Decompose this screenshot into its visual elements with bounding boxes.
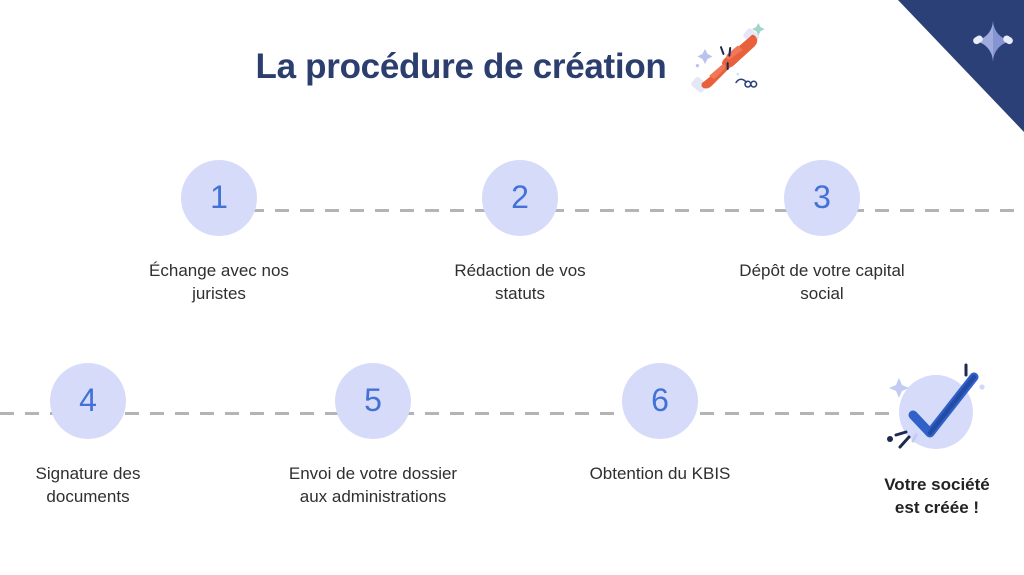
handshake-illustration-icon — [684, 22, 768, 106]
step-6-number: 6 — [651, 384, 669, 418]
step-2[interactable]: 2 Rédaction de vos statuts — [405, 160, 635, 306]
step-3-label: Dépôt de votre capital social — [739, 259, 904, 306]
steps-row-1: 1 Échange avec nos juristes 2 Rédaction … — [0, 160, 1024, 330]
step-2-number: 2 — [511, 181, 529, 215]
step-2-bubble: 2 — [482, 160, 558, 236]
check-mark-icon — [882, 363, 992, 459]
step-5-number: 5 — [364, 384, 382, 418]
title-row: La procédure de création — [0, 28, 1024, 106]
step-1-bubble: 1 — [181, 160, 257, 236]
step-6-label: Obtention du KBIS — [590, 462, 731, 485]
step-3[interactable]: 3 Dépôt de votre capital social — [707, 160, 937, 306]
step-5[interactable]: 5 Envoi de votre dossier aux administrat… — [258, 363, 488, 509]
step-2-label: Rédaction de vos statuts — [454, 259, 585, 306]
step-6[interactable]: 6 Obtention du KBIS — [545, 363, 775, 485]
step-3-bubble: 3 — [784, 160, 860, 236]
step-1[interactable]: 1 Échange avec nos juristes — [104, 160, 334, 306]
step-1-label: Échange avec nos juristes — [149, 259, 289, 306]
finish-badge — [882, 363, 992, 459]
step-5-bubble: 5 — [335, 363, 411, 439]
step-3-number: 3 — [813, 181, 831, 215]
step-finish[interactable]: Votre société est créée ! — [822, 363, 1024, 520]
slide-canvas: La procédure de création — [0, 0, 1024, 575]
step-4-label: Signature des documents — [36, 462, 141, 509]
step-5-label: Envoi de votre dossier aux administratio… — [289, 462, 457, 509]
step-4[interactable]: 4 Signature des documents — [0, 363, 203, 509]
steps-row-2: 4 Signature des documents 5 Envoi de vot… — [0, 363, 1024, 533]
step-6-bubble: 6 — [622, 363, 698, 439]
page-title: La procédure de création — [256, 47, 667, 87]
step-4-bubble: 4 — [50, 363, 126, 439]
finish-label: Votre société est créée ! — [884, 473, 990, 520]
step-4-number: 4 — [79, 384, 97, 418]
step-1-number: 1 — [210, 181, 228, 215]
